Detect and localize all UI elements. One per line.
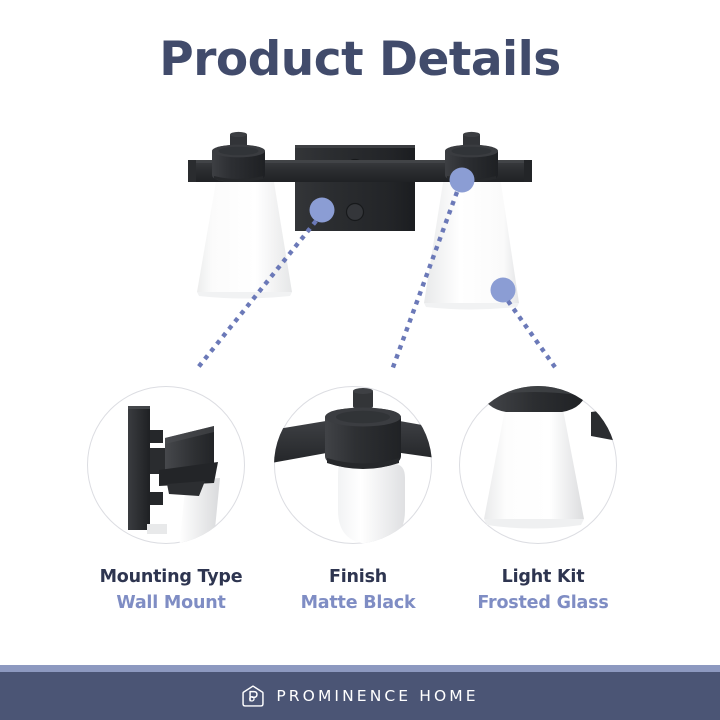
footer-accent-strip <box>0 665 720 672</box>
callout-dot-finish <box>450 168 475 193</box>
callout-mounting-type[interactable]: Mounting Type Wall Mount <box>78 380 264 630</box>
callout-title-finish: Finish <box>265 567 451 587</box>
callout-finish[interactable]: Finish Matte Black <box>265 380 451 630</box>
prominence-home-house-logo <box>241 684 265 708</box>
callout-dot-mounting <box>310 198 335 223</box>
footer-brand-text: PROMINENCE HOME <box>276 687 478 705</box>
callout-title-light-kit: Light Kit <box>450 567 636 587</box>
callout-title-mounting: Mounting Type <box>78 567 264 587</box>
callout-value-finish: Matte Black <box>265 593 451 613</box>
hero-fixture-svg <box>0 120 720 370</box>
callout-dot-light-kit <box>491 278 516 303</box>
callout-light-kit[interactable]: Light Kit Frosted Glass <box>450 380 636 630</box>
footer-brand-bar: PROMINENCE HOME <box>0 672 720 720</box>
callout-circle-mounting <box>87 386 245 544</box>
callout-connector-light-kit <box>491 278 558 371</box>
callout-circle-light-kit <box>459 386 617 544</box>
page-title: Product Details <box>0 34 720 86</box>
left-glass-shade <box>197 170 292 299</box>
left-socket-housing <box>212 132 265 182</box>
callout-circle-finish <box>274 386 432 544</box>
callouts-row: Mounting Type Wall Mount <box>0 380 720 630</box>
callout-value-mounting: Wall Mount <box>78 593 264 613</box>
callout-value-light-kit: Frosted Glass <box>450 593 636 613</box>
product-hero-image <box>0 120 720 370</box>
